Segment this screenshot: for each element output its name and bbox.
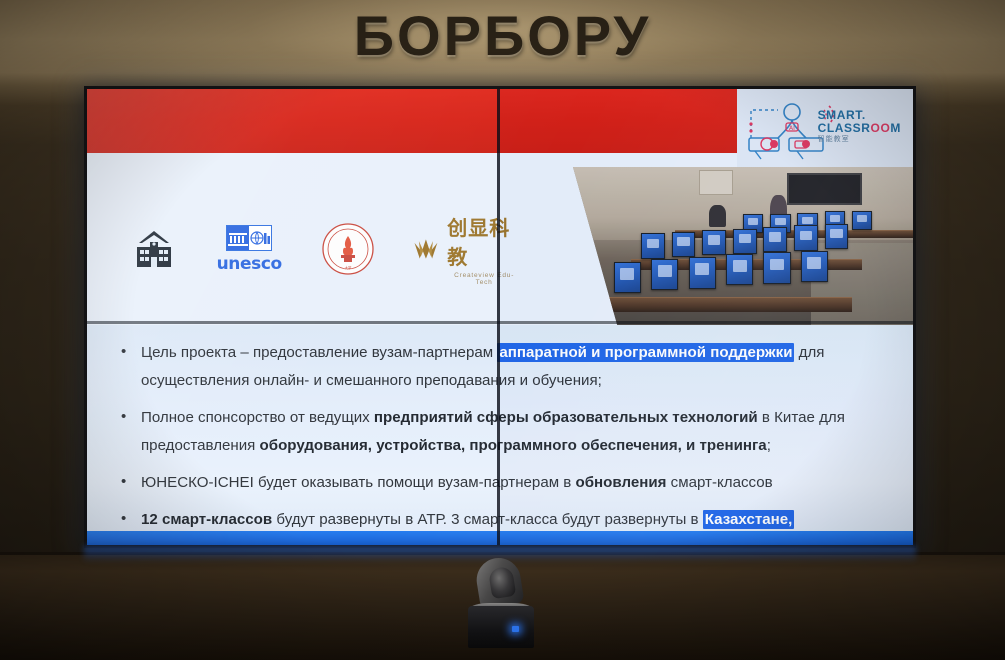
slide-footer-band — [87, 531, 913, 545]
unesco-globe-icon — [249, 226, 271, 250]
bullet-bold-run: предприятий сферы образовательных технол… — [374, 409, 758, 426]
bullet-text-run: будут развернуты в АТР. 3 смарт-класса б… — [272, 511, 703, 528]
video-wall-display[interactable]: Проект «Смарт-класс» AI — [84, 86, 916, 548]
bullet-item: ЮНЕСКО-ICHEI будет оказывать помощи вуза… — [111, 469, 887, 497]
logo-classr: CLASSR — [818, 121, 871, 135]
bullet-text-run: смарт-классов — [666, 474, 772, 491]
createview-chinese-name: 创显科教 — [447, 212, 521, 270]
bullet-item: Полное спонсорство от ведущих предприяти… — [111, 404, 887, 460]
presentation-slide: Проект «Смарт-класс» AI — [87, 89, 913, 545]
bullet-highlight-run: аппаратной и программной поддержки — [497, 343, 794, 362]
university-seal-icon: 大学 — [321, 222, 375, 276]
unesco-temple-icon — [227, 226, 249, 250]
university-seal-logo: 大学 — [321, 222, 375, 276]
bullet-text-run: ЮНЕСКО-ICHEI будет оказывать помощи вуза… — [141, 474, 576, 491]
camera-base — [468, 606, 534, 648]
conference-room-scene: БОРБОРУ Проект «Смарт-класс» AI — [0, 0, 1005, 660]
computer-lab-photo — [573, 167, 913, 325]
ptz-camera — [466, 556, 536, 648]
unesco-wordmark: unesco — [217, 254, 282, 274]
slide-body: Цель проекта – предоставление вузам-парт… — [87, 325, 913, 545]
logo-o-1: O — [871, 121, 881, 135]
bullet-item: Цель проекта – предоставление вузам-парт… — [111, 339, 887, 395]
photo-wall-tv — [787, 173, 862, 205]
bullet-bold-run: обновления — [576, 474, 667, 491]
bullet-text-run: Цель проекта – предоставление вузам-парт… — [141, 344, 497, 361]
wall-sign-text: БОРБОРУ — [0, 3, 1005, 68]
partner-logo-row: unesco 大学 — [131, 209, 521, 289]
smart-classroom-logo-panel: AI — [737, 89, 913, 167]
createview-edutech-logo: 创显科教 Createview Edu-Tech — [411, 212, 521, 286]
logo-chinese-text: 智能教室 — [818, 136, 901, 143]
logo-line-classroom: CLASSROOM — [818, 122, 901, 135]
createview-english-name: Createview Edu-Tech — [447, 272, 521, 286]
svg-text:大学: 大学 — [345, 265, 352, 270]
bullet-list: Цель проекта – предоставление вузам-парт… — [111, 339, 887, 545]
camera-head — [474, 555, 525, 609]
smart-classroom-logo: AI — [743, 95, 907, 161]
bullet-text-run: ; — [767, 437, 771, 454]
camera-lens — [488, 566, 516, 599]
photo-person-bending — [709, 205, 726, 227]
smart-classroom-wordmark: SMART. CLASSROOM 智能教室 — [818, 109, 901, 144]
bullet-text-run: Полное спонсорство от ведущих — [141, 409, 374, 426]
logo-o-2: O — [880, 121, 890, 135]
photo-door — [699, 170, 733, 195]
slide-header-band — [87, 89, 743, 153]
school-building-icon — [131, 229, 177, 269]
logo-m: M — [890, 121, 901, 135]
createview-mark-icon — [411, 236, 441, 262]
unesco-logo: unesco — [213, 225, 285, 274]
school-building-logo — [131, 229, 177, 269]
svg-text:AI: AI — [789, 125, 795, 132]
camera-status-led — [512, 626, 519, 632]
bullet-bold-run: 12 смарт-классов — [141, 511, 272, 528]
bullet-bold-run: оборудования, устройства, программного о… — [260, 437, 767, 454]
